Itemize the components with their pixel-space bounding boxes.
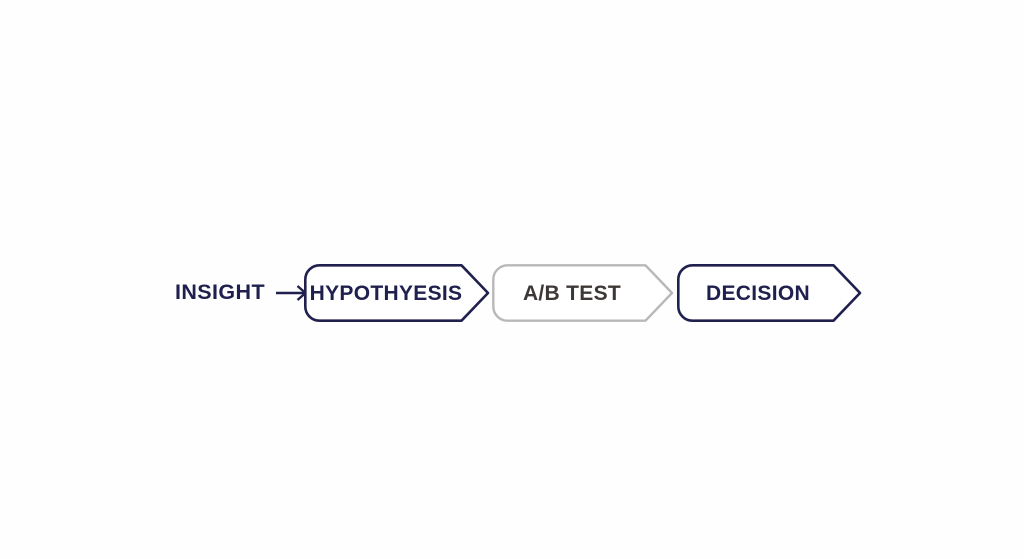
flow-start-group: INSIGHT (175, 258, 310, 328)
process-flow-row: INSIGHT HYPOTHYESIS A/B TEST (0, 258, 1024, 328)
diagram-canvas: INSIGHT HYPOTHYESIS A/B TEST (0, 0, 1024, 559)
process-step-abtest[interactable]: A/B TEST (492, 264, 674, 322)
process-step-decision[interactable]: DECISION (677, 264, 862, 322)
process-step-hypothesis[interactable]: HYPOTHYESIS (304, 264, 490, 322)
flow-start-label: INSIGHT (175, 282, 265, 304)
